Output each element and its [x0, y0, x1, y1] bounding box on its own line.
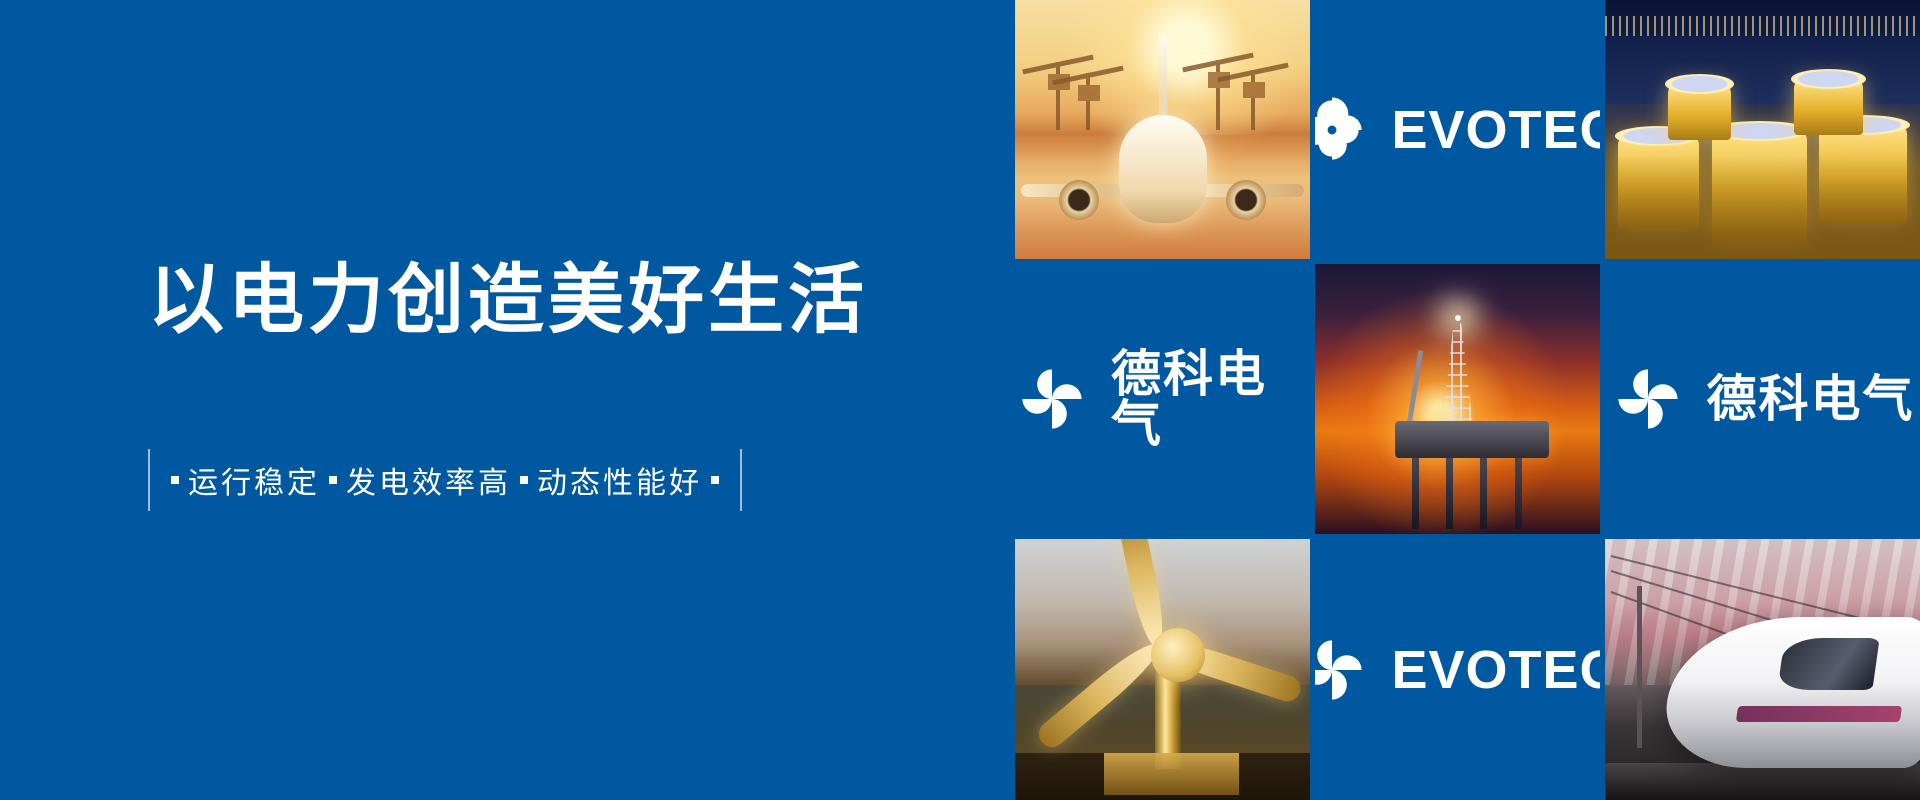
tile-oil-storage-tanks-night	[1605, 0, 1920, 259]
photo-oil-storage-tanks-night	[1605, 0, 1920, 259]
page-title: 以电力创造美好生活	[148, 258, 868, 343]
pinwheel-logo-icon	[1315, 633, 1369, 707]
photo-high-speed-train	[1605, 539, 1920, 800]
tile-logo-evotec-top: EVOTEC	[1315, 0, 1600, 259]
tile-logo-deke-left: 德科电气	[1015, 264, 1310, 534]
tagline-list: 运行稳定 发电效率高 动态性能好	[150, 449, 740, 511]
promotional-banner: 以电力创造美好生活 运行稳定 发电效率高 动态性能好	[0, 0, 1920, 800]
tagline-item-1: 发电效率高	[346, 458, 511, 502]
tile-airport-harbour-sunset	[1015, 0, 1310, 259]
bullet-square-icon	[711, 476, 719, 484]
tile-logo-deke-right: 德科电气	[1605, 264, 1920, 534]
tagline-item-2: 动态性能好	[537, 458, 702, 502]
bullet-square-icon	[520, 476, 528, 484]
tagline-rule-left	[148, 449, 150, 511]
pinwheel-logo-icon	[1315, 93, 1369, 167]
tagline-rule-right	[740, 449, 742, 511]
logo-lockup-evotec-bottom: EVOTEC	[1315, 633, 1600, 707]
bullet-square-icon	[329, 476, 337, 484]
wordmark-deke: 德科电气	[1111, 349, 1310, 449]
tagline-group: 运行稳定 发电效率高 动态性能好	[148, 449, 742, 511]
photo-offshore-oil-rig-sunset	[1315, 264, 1600, 534]
tile-tidal-wind-turbine	[1015, 539, 1310, 800]
photo-tidal-wind-turbine	[1015, 539, 1310, 800]
wordmark-deke: 德科电气	[1707, 374, 1915, 424]
logo-lockup-deke-right: 德科电气	[1611, 362, 1915, 436]
photo-airport-harbour-sunset	[1015, 0, 1310, 259]
logo-lockup-deke-left: 德科电气	[1015, 349, 1310, 449]
tile-high-speed-train	[1605, 539, 1920, 800]
logo-lockup-evotec-top: EVOTEC	[1315, 93, 1600, 167]
image-logo-grid: EVOTEC	[1015, 0, 1920, 800]
bullet-square-icon	[171, 476, 179, 484]
tile-offshore-oil-rig-sunset	[1315, 264, 1600, 534]
wordmark-evotec: EVOTEC	[1391, 103, 1600, 157]
wordmark-evotec: EVOTEC	[1391, 643, 1600, 697]
tile-logo-evotec-bottom: EVOTEC	[1315, 539, 1600, 800]
pinwheel-logo-icon	[1611, 362, 1685, 436]
copy-block: 以电力创造美好生活 运行稳定 发电效率高 动态性能好	[0, 0, 1015, 800]
tagline-item-0: 运行稳定	[188, 458, 320, 502]
pinwheel-logo-icon	[1015, 362, 1089, 436]
